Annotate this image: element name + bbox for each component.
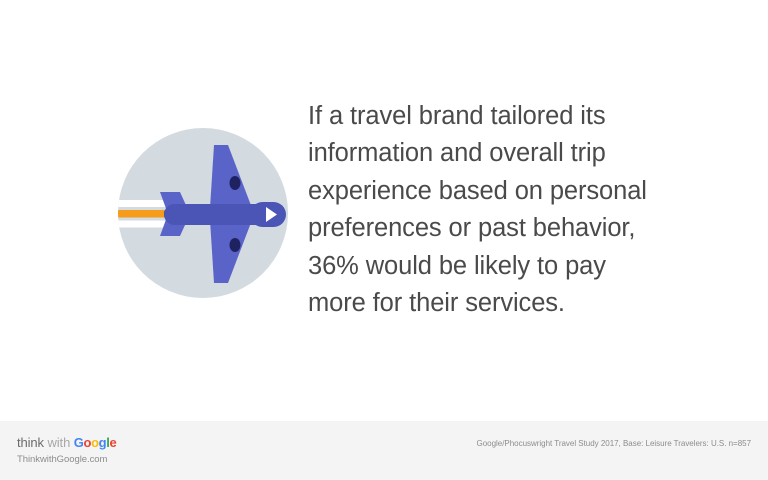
slide-canvas: If a travel brand tailored its informati…: [0, 0, 768, 480]
google-letter-e: e: [110, 435, 117, 450]
airplane-illustration: [118, 128, 288, 298]
logo-wordmark: think with Google: [17, 435, 116, 450]
footer-bar: think with Google ThinkwithGoogle.com Go…: [0, 421, 768, 480]
footer-url[interactable]: ThinkwithGoogle.com: [17, 454, 116, 465]
google-wordmark: Google: [74, 435, 117, 450]
headline-text: If a travel brand tailored its informati…: [308, 98, 653, 322]
logo-with-text: with: [47, 435, 70, 450]
google-letter-o1: o: [83, 435, 91, 450]
airplane-icon: [102, 128, 302, 298]
google-letter-o2: o: [91, 435, 99, 450]
think-with-google-logo[interactable]: think with Google ThinkwithGoogle.com: [17, 435, 116, 465]
source-citation: Google/Phocuswright Travel Study 2017, B…: [477, 439, 751, 449]
logo-think-text: think: [17, 435, 44, 450]
